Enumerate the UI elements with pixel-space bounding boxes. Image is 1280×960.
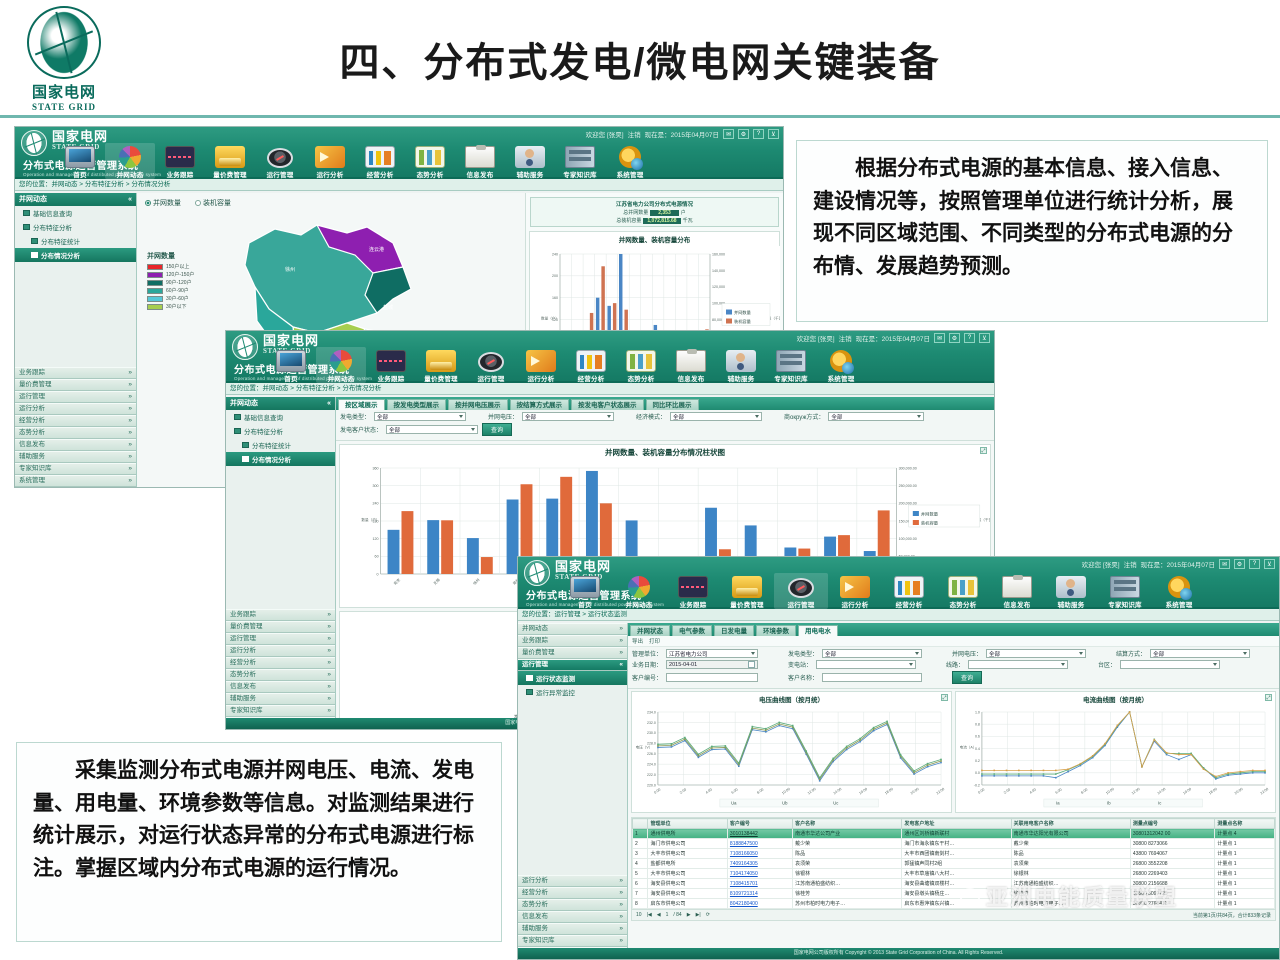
svg-text:装机容量: 装机容量 — [921, 519, 939, 526]
pie-icon — [119, 146, 141, 168]
tree-item-分布特征分析[interactable]: 分布特征分析 — [226, 424, 335, 438]
table-cell-cname: 陈品 — [793, 849, 902, 859]
nav-item-label: 系统管理 — [828, 373, 855, 383]
nav-item-量价费管理[interactable]: 量价费管理 — [720, 573, 774, 609]
table-col-测量点名称[interactable]: 测量点名称 — [1215, 819, 1275, 829]
accordion-label: 运行管理 — [19, 391, 45, 403]
filter-select-voltage[interactable]: 全部 — [986, 649, 1086, 658]
filter-select-area[interactable] — [1120, 660, 1220, 669]
accordion-系统管理[interactable]: 系统管理» — [15, 475, 136, 487]
sidebar-title-1: 并网动态« — [15, 193, 136, 206]
tree-item-分布特征分析[interactable]: 分布特征分析 — [15, 220, 136, 234]
accordion-label: 量价费管理 — [522, 647, 555, 659]
tree-item-label: 分布特征统计 — [41, 236, 80, 246]
nav-item-专家知识库[interactable]: 专家知识库 — [555, 143, 605, 179]
tree-item-label: 分布特征统计 — [252, 440, 291, 450]
accordion-并网动态[interactable]: 并网动态» — [518, 623, 627, 635]
home-icon — [276, 350, 306, 372]
coin-icon — [732, 576, 762, 598]
filter-label: 管理单位： — [632, 649, 662, 658]
nav-item-label: 业务跟踪 — [680, 599, 707, 609]
person-icon — [1056, 576, 1086, 598]
legend-label: 150户以上 — [166, 263, 189, 270]
nav-item-系统管理[interactable]: 系统管理 — [816, 347, 866, 383]
nav-item-运行管理[interactable]: 运行管理 — [466, 347, 516, 383]
query-button-2[interactable]: 查询 — [482, 423, 512, 436]
content-3: 并网状态电气参数日发电量环境参数用电电水 导出 打印 管理单位： 江苏省电力公司… — [628, 623, 1279, 959]
sidebar-accordion-1[interactable]: 业务跟踪»量价费管理»运行管理»运行分析»经营分析»态势分析»信息发布»辅助服务… — [15, 367, 136, 487]
tab-环境参数[interactable]: 环境参数 — [756, 625, 796, 636]
nav-item-label: 专家知识库 — [1108, 599, 1142, 609]
table-cell-cname: 戴少荣 — [793, 839, 902, 849]
accordion-业务跟踪[interactable]: 业务跟踪» — [226, 609, 335, 621]
tab-bar-3[interactable]: 并网状态电气参数日发电量环境参数用电电水 — [628, 623, 1279, 636]
filter-select-settlement[interactable]: 全部 — [1150, 649, 1250, 658]
svg-text:电流（A）: 电流（A） — [960, 744, 977, 749]
data-table[interactable]: 管理单位客户编号客户名称发电客户地址关联用电客户名称测量点编号测量点名称 1通州… — [632, 818, 1275, 909]
svg-text:120,000: 120,000 — [712, 285, 725, 289]
svg-text:220.0: 220.0 — [647, 783, 656, 787]
table-col-客户名称[interactable]: 客户名称 — [793, 819, 902, 829]
table-cell-cname: 徐银林 — [793, 869, 902, 879]
callout-bottom: 采集监测分布式电源并网电压、电流、发电量、用电量、环境参数等信息。对监测结果进行… — [16, 742, 502, 942]
next-page-icon[interactable]: ▶ — [687, 912, 691, 918]
accordion-经营分析[interactable]: 经营分析» — [226, 657, 335, 669]
nav-item-首页[interactable]: 首页 — [55, 143, 105, 179]
accordion-运行分析[interactable]: 运行分析» — [226, 645, 335, 657]
svg-text:300,000.00: 300,000.00 — [899, 466, 917, 470]
settings-icon[interactable]: ⚙ — [738, 129, 749, 139]
nav-item-辅助服务[interactable]: 辅助服务 — [716, 347, 766, 383]
customer-name-input[interactable] — [822, 673, 922, 682]
table-col-index[interactable] — [633, 819, 648, 829]
tree-item-分布情况分析[interactable]: 分布情况分析 — [226, 452, 335, 466]
chevron-icon: » — [327, 669, 331, 681]
tree-node-icon — [31, 252, 38, 258]
tab-并网状态[interactable]: 并网状态 — [630, 625, 670, 636]
nav-item-label: 专家知识库 — [563, 169, 597, 179]
table-cell-no: 5 — [633, 869, 648, 879]
callout-right-text: 根据分布式电源的基本信息、接入信息、建设情况等，按照管理单位进行统计分析，展现不… — [813, 153, 1251, 283]
filter-select-substation[interactable] — [816, 660, 916, 669]
mail-icon[interactable]: ✉ — [934, 333, 945, 343]
coin-icon — [215, 146, 245, 168]
nav-item-经营分析[interactable]: 经营分析 — [882, 573, 936, 609]
tab-按发电类型展示[interactable]: 按发电类型展示 — [387, 399, 447, 410]
table-col-管理单位[interactable]: 管理单位 — [648, 819, 727, 829]
table-cell-addr: 启东市惠萍镇东兴镇… — [902, 899, 1011, 909]
nav-item-运行分析[interactable]: 运行分析 — [828, 573, 882, 609]
tree-item-基础信息查询[interactable]: 基础信息查询 — [226, 410, 335, 424]
tree-node-icon — [23, 210, 30, 216]
prev-page-icon[interactable]: ◀ — [657, 912, 661, 918]
nav-item-label: 业务跟踪 — [167, 169, 194, 179]
accordion-经营分析[interactable]: 经营分析» — [518, 887, 627, 899]
nav-item-label: 首页 — [578, 599, 591, 609]
nav-item-系统管理[interactable]: 系统管理 — [605, 143, 655, 179]
data-table-wrap[interactable]: 管理单位客户编号客户名称发电客户地址关联用电客户名称测量点编号测量点名称 1通州… — [631, 817, 1276, 921]
nav-item-label: 信息发布 — [678, 373, 705, 383]
accordion-经营分析[interactable]: 经营分析» — [15, 415, 136, 427]
settings-icon[interactable]: ⚙ — [949, 333, 960, 343]
accordion-态势分析[interactable]: 态势分析» — [15, 427, 136, 439]
table-cell-cid[interactable]: 7108415701 — [727, 879, 792, 889]
mail-icon[interactable]: ✉ — [723, 129, 734, 139]
help-icon[interactable]: ? — [964, 333, 975, 343]
collapse-icon[interactable]: « — [327, 397, 331, 410]
tree-node-icon — [234, 414, 241, 420]
filter-select-customer-status[interactable]: 全部 — [386, 425, 478, 434]
nav-item-label: 辅助服务 — [517, 169, 544, 179]
filter-select-settlement[interactable]: 全部 — [828, 412, 924, 421]
accordion-label: 辅助服务 — [230, 693, 256, 705]
filter-bar-2[interactable]: 发电类型： 全部 并网电压： 全部 经济模式： 全部 商окруж方式： 全部 … — [336, 410, 994, 441]
settings-icon[interactable]: ⚙ — [1234, 559, 1245, 569]
app-header-1: 国家电网 STATE GRID 分布式电源运营管理系统 Operation an… — [15, 127, 783, 179]
logout-link[interactable]: 注销 — [1124, 559, 1137, 569]
table-cell-mid: 30800 8273066 — [1130, 839, 1215, 849]
nav-item-态势分析[interactable]: 态势分析 — [405, 143, 455, 179]
nav-item-label: 信息发布 — [467, 169, 494, 179]
table-cell-cid[interactable]: 8109721314 — [727, 889, 792, 899]
tree-item-分布特征统计[interactable]: 分布特征统计 — [226, 438, 335, 452]
accordion-专家知识库[interactable]: 专家知识库» — [518, 935, 627, 947]
tree-item-运行异常监控[interactable]: 运行异常监控 — [518, 685, 627, 699]
sidebar-tree-1[interactable]: 基础信息查询分布特征分析分布特征统计分布情况分析 — [15, 206, 136, 262]
table-col-测量点编号[interactable]: 测量点编号 — [1130, 819, 1215, 829]
table-cell-mid: 26800 2269403 — [1130, 869, 1215, 879]
print-button[interactable]: 打印 — [649, 637, 660, 645]
table-row[interactable]: 3大丰市供电公司7108166050陈品大丰市西团镇南剑村…陈品43800 76… — [633, 849, 1275, 859]
sidebar-accordion-bottom-3[interactable]: 运行分析»经营分析»态势分析»信息发布»辅助服务»专家知识库»系统管理» — [518, 875, 627, 959]
tree-item-运行状态监测[interactable]: 运行状态监测 — [518, 671, 627, 685]
accordion-量价费管理[interactable]: 量价费管理» — [15, 379, 136, 391]
chevron-icon: » — [128, 367, 132, 379]
nav-item-态势分析[interactable]: 态势分析 — [936, 573, 990, 609]
callout-bottom-text: 采集监测分布式电源并网电压、电流、发电量、用电量、环境参数等信息。对监测结果进行… — [33, 755, 485, 885]
main-nav-2[interactable]: 首页并网动态业务跟踪量价费管理运行管理运行分析经营分析态势分析信息发布辅助服务专… — [226, 345, 994, 383]
nav-item-运行管理[interactable]: 运行管理 — [774, 573, 828, 609]
nav-item-业务跟踪[interactable]: 业务跟踪 — [155, 143, 205, 179]
customer-id-input[interactable] — [666, 673, 758, 682]
current-chart-card: ⤢ 电流曲线图（按月统） -0.20.00.20.40.60.81.00:002… — [955, 691, 1276, 813]
table-row[interactable]: 1通州供电所3010138442南通市华达公司产业通州区刘桥镇新联村南通市华达阳… — [633, 829, 1275, 839]
table-cell-mname: 计量点 1 — [1215, 859, 1275, 869]
accordion-运行管理[interactable]: 运行管理» — [226, 633, 335, 645]
tab-用电电水[interactable]: 用电电水 — [798, 625, 838, 636]
status-user: 欢迎您 [张昊] — [797, 333, 835, 343]
sidebar-title-2: 并网动态« — [226, 397, 335, 410]
sidebar-3[interactable]: 并网动态»业务跟踪»量价费管理» 运行管理« 运行状态监测运行异常监控 运行分析… — [518, 623, 628, 959]
info-box-1: 江苏省电力公司分布式电源情况 总并网数量 2,353 户 总装机容量 1,072… — [530, 197, 779, 227]
accordion-label: 并网动态 — [522, 623, 548, 635]
chevron-icon: » — [619, 899, 623, 911]
chart-title-1: 并网数量、装机容量分布 — [530, 232, 779, 246]
nav-item-并网动态[interactable]: 并网动态 — [612, 573, 666, 609]
nav-item-量价费管理[interactable]: 量价费管理 — [205, 143, 255, 179]
nav-item-运行分析[interactable]: 运行分析 — [516, 347, 566, 383]
nav-item-label: 运行管理 — [267, 169, 294, 179]
accordion-辅助服务[interactable]: 辅助服务» — [518, 923, 627, 935]
nav-item-辅助服务[interactable]: 辅助服务 — [1044, 573, 1098, 609]
first-page-icon[interactable]: |◀ — [647, 912, 652, 918]
status-bar-2: 欢迎您 [张昊] 注销 现在是：2015年04月07日 ✉ ⚙ ? ⊻ — [797, 332, 990, 344]
tree-node-icon — [242, 456, 249, 462]
clipboard-icon — [465, 146, 495, 168]
svg-text:0.2: 0.2 — [975, 759, 980, 763]
tab-日发电量[interactable]: 日发电量 — [714, 625, 754, 636]
query-button-3[interactable]: 查询 — [952, 671, 982, 684]
table-cell-cid[interactable]: 7104174050 — [727, 869, 792, 879]
maximize-icon[interactable]: ⤢ — [941, 694, 948, 701]
tab-按发电客户状态展示[interactable]: 按发电客户状态展示 — [571, 399, 644, 410]
table-cell-no: 4 — [633, 859, 648, 869]
filter-select-voltage[interactable]: 全部 — [522, 412, 614, 421]
table-cell-mname: 计量点 1 — [1215, 889, 1275, 899]
nav-item-运行分析[interactable]: 运行分析 — [305, 143, 355, 179]
main-nav-3[interactable]: 首页并网动态业务跟踪量价费管理运行管理运行分析经营分析态势分析信息发布辅助服务专… — [518, 571, 1279, 609]
filter-label: 线路： — [946, 660, 964, 669]
export-button[interactable]: 导出 — [632, 637, 643, 645]
accordion-运行分析[interactable]: 运行分析» — [518, 875, 627, 887]
minimize-icon[interactable]: ⊻ — [1264, 559, 1275, 569]
nav-item-label: 信息发布 — [1004, 599, 1031, 609]
accordion-信息发布[interactable]: 信息发布» — [15, 439, 136, 451]
table-cell-cid[interactable]: 8042180400 — [727, 899, 792, 909]
table-col-关联用电客户名称[interactable]: 关联用电客户名称 — [1011, 819, 1130, 829]
sidebar-accordion-top-3[interactable]: 并网动态»业务跟踪»量价费管理» — [518, 623, 627, 659]
tab-按并网电压展示[interactable]: 按并网电压展示 — [448, 399, 508, 410]
tab-同比环比展示[interactable]: 同比环比展示 — [646, 399, 699, 410]
chevron-icon: » — [619, 623, 623, 635]
nav-item-信息发布[interactable]: 信息发布 — [666, 347, 716, 383]
logout-link[interactable]: 注销 — [839, 333, 852, 343]
filter-label: 并网电压： — [952, 649, 982, 658]
main-nav-1[interactable]: 首页并网动态业务跟踪量价费管理运行管理运行分析经营分析态势分析信息发布辅助服务专… — [15, 141, 783, 179]
svg-text:电压（V）: 电压（V） — [636, 744, 653, 749]
gauge-icon — [267, 148, 293, 168]
svg-text:连云港: 连云港 — [369, 246, 384, 253]
accordion-label: 量价费管理 — [19, 379, 52, 391]
tab-按区域展示[interactable]: 按区域展示 — [338, 399, 385, 410]
filter-select-gen-type[interactable]: 全部 — [822, 649, 922, 658]
voltage-line-chart[interactable]: 220.0222.0224.0226.0228.0230.0232.0234.0… — [632, 706, 951, 811]
tree-node-icon — [234, 428, 241, 434]
database-icon — [1110, 576, 1140, 598]
current-line-chart[interactable]: -0.20.00.20.40.60.81.00:002:004:006:008:… — [956, 706, 1275, 811]
nav-item-label: 并网动态 — [328, 373, 355, 383]
table-row[interactable]: 7海安县供电公司8109721314徐桂芳海安县墩头镇杨庄…徐桂芳30800 3… — [633, 889, 1275, 899]
nav-item-专家知识库[interactable]: 专家知识库 — [766, 347, 816, 383]
accordion-信息发布[interactable]: 信息发布» — [518, 911, 627, 923]
table-body[interactable]: 1通州供电所3010138442南通市华达公司产业通州区刘桥镇新联村南通市华达阳… — [633, 829, 1275, 909]
accordion-运行管理[interactable]: 运行管理» — [15, 391, 136, 403]
voltage-chart-card: ⤢ 电压曲线图（按月统） 220.0222.0224.0226.0228.023… — [631, 691, 952, 813]
nav-item-辅助服务[interactable]: 辅助服务 — [505, 143, 555, 179]
page-total: / 84 — [673, 912, 681, 918]
chart-title-2: 并网数量、装机容量分布情况柱状图 — [340, 445, 990, 460]
table-row[interactable]: 4盐都供电所7409164305袁须荣郭猛镇声同村2组袁须荣26800 3552… — [633, 859, 1275, 869]
table-row[interactable]: 6海安县供电公司7108415701江苏南通柏盛纺织…海安县曲塘镇双楼村…江苏南… — [633, 879, 1275, 889]
sidebar-tree-2[interactable]: 基础信息查询分布特征分析分布特征统计分布情况分析 — [226, 410, 335, 466]
collapse-icon[interactable]: « — [128, 193, 132, 206]
svg-text:230.0: 230.0 — [647, 731, 656, 735]
filter-select-line[interactable] — [968, 660, 1068, 669]
table-cell-unit: 大丰市供电公司 — [648, 849, 727, 859]
status-bar-1: 欢迎您 [张昊] 注销 现在是：2015年04月07日 ✉ ⚙ ? ⊻ — [586, 128, 779, 140]
current-chart-title: 电流曲线图（按月统） — [956, 692, 1275, 706]
accordion-label: 运行管理 — [230, 633, 256, 645]
nav-item-信息发布[interactable]: 信息发布 — [990, 573, 1044, 609]
chevron-icon: » — [327, 609, 331, 621]
filter-select-org[interactable]: 江苏省电力公司 — [666, 649, 758, 658]
nav-item-系统管理[interactable]: 系统管理 — [1152, 573, 1206, 609]
filter-select-economy[interactable]: 全部 — [670, 412, 762, 421]
tree-item-基础信息查询[interactable]: 基础信息查询 — [15, 206, 136, 220]
sidebar-1[interactable]: 并网动态« 基础信息查询分布特征分析分布特征统计分布情况分析 业务跟踪»量价费管… — [15, 193, 137, 487]
status-bar-3: 欢迎您 [张昊] 注销 现在是：2015年04月07日 ✉ ⚙ ? ⊻ — [1082, 558, 1275, 570]
bars2-icon — [626, 350, 656, 372]
svg-text:160: 160 — [552, 296, 558, 300]
svg-text:Ua: Ua — [731, 800, 737, 805]
home-icon — [570, 576, 600, 598]
table-cell-rel: 徐桂芳 — [1011, 889, 1130, 899]
sidebar-accordion-2[interactable]: 业务跟踪»量价费管理»运行管理»运行分析»经营分析»态势分析»信息发布»辅助服务… — [226, 609, 335, 729]
tree-item-分布情况分析[interactable]: 分布情况分析 — [15, 248, 136, 262]
minimize-icon[interactable]: ⊻ — [979, 333, 990, 343]
tree-node-icon — [31, 238, 38, 244]
nav-item-label: 并网动态 — [626, 599, 653, 609]
table-cell-cid[interactable]: 7108166050 — [727, 849, 792, 859]
nav-item-label: 首页 — [73, 169, 86, 179]
accordion-业务跟踪[interactable]: 业务跟踪» — [15, 367, 136, 379]
help-icon[interactable]: ? — [1249, 559, 1260, 569]
accordion-业务跟踪[interactable]: 业务跟踪» — [518, 635, 627, 647]
nav-item-专家知识库[interactable]: 专家知识库 — [1098, 573, 1152, 609]
table-cell-mname: 计量点 1 — [1215, 879, 1275, 889]
svg-text:0.6: 0.6 — [975, 735, 980, 739]
page-current[interactable]: 1 — [666, 912, 669, 918]
logout-link[interactable]: 注销 — [628, 129, 641, 139]
nav-item-信息发布[interactable]: 信息发布 — [455, 143, 505, 179]
accordion-label: 运行分析 — [230, 645, 256, 657]
chevron-icon: » — [327, 681, 331, 693]
table-row[interactable]: 8启东市供电公司8042180400苏州市柏时电力电子…启东市惠萍镇东兴镇…苏州… — [633, 899, 1275, 909]
nav-item-经营分析[interactable]: 经营分析 — [355, 143, 405, 179]
table-cell-cname: 江苏南通柏盛纺织… — [793, 879, 902, 889]
tab-bar-2[interactable]: 按区域展示按发电类型展示按并网电压展示按结算方式展示按发电客户状态展示同比环比展… — [336, 397, 994, 410]
legend-item: 30户-60户 — [147, 295, 194, 302]
tree-item-分布特征统计[interactable]: 分布特征统计 — [15, 234, 136, 248]
nav-item-并网动态[interactable]: 并网动态 — [316, 347, 366, 383]
table-cell-cid[interactable]: 3010138442 — [727, 829, 792, 839]
chevron-icon: » — [619, 923, 623, 935]
nav-item-首页[interactable]: 首页 — [558, 573, 612, 609]
help-icon[interactable]: ? — [753, 129, 764, 139]
nav-item-业务跟踪[interactable]: 业务跟踪 — [666, 573, 720, 609]
nav-item-label: 量价费管理 — [213, 169, 247, 179]
nav-item-label: 辅助服务 — [728, 373, 755, 383]
table-cell-cid[interactable]: 8188847500 — [727, 839, 792, 849]
table-row[interactable]: 2海门市供电公司8188847500戴少荣海门市海永镇东干村…戴少荣30800 … — [633, 839, 1275, 849]
chevron-icon: » — [128, 379, 132, 391]
accordion-信息发布[interactable]: 信息发布» — [226, 681, 335, 693]
accordion-专家知识库[interactable]: 专家知识库» — [226, 705, 335, 717]
table-col-发电客户地址[interactable]: 发电客户地址 — [902, 819, 1011, 829]
mail-icon[interactable]: ✉ — [1219, 559, 1230, 569]
chevron-icon: » — [619, 911, 623, 923]
accordion-辅助服务[interactable]: 辅助服务» — [226, 693, 335, 705]
chevron-icon: » — [128, 475, 132, 487]
nav-item-首页[interactable]: 首页 — [266, 347, 316, 383]
nav-item-量价费管理[interactable]: 量价费管理 — [416, 347, 466, 383]
table-cell-addr: 海门市海永镇东干村… — [902, 839, 1011, 849]
date-input-3[interactable]: 2015-04-01 — [666, 660, 758, 669]
sidebar-2[interactable]: 并网动态« 基础信息查询分布特征分析分布特征统计分布情况分析 业务跟踪»量价费管… — [226, 397, 336, 729]
table-cell-rel: 陈品 — [1011, 849, 1130, 859]
table-col-客户编号[interactable]: 客户编号 — [727, 819, 792, 829]
nav-item-态势分析[interactable]: 态势分析 — [616, 347, 666, 383]
table-cell-rel: 徐银林 — [1011, 869, 1130, 879]
table-pager[interactable]: 10 |◀ ◀ 1 / 84 ▶ ▶| ⟳ 当前第1页/共84页，合计833条记… — [632, 909, 1275, 920]
accordion-态势分析[interactable]: 态势分析» — [226, 669, 335, 681]
radio-grid-count[interactable]: 并网数量 — [145, 198, 181, 208]
table-cell-addr: 郭猛镇声同村2组 — [902, 859, 1011, 869]
nav-item-经营分析[interactable]: 经营分析 — [566, 347, 616, 383]
accordion-量价费管理[interactable]: 量价费管理» — [518, 647, 627, 659]
legend-item: 120户-150户 — [147, 271, 194, 278]
chevron-icon: » — [128, 451, 132, 463]
last-page-icon[interactable]: ▶| — [696, 912, 701, 918]
tab-按结算方式展示[interactable]: 按结算方式展示 — [510, 399, 570, 410]
accordion-label: 业务跟踪 — [230, 609, 256, 621]
table-cell-unit: 海门市供电公司 — [648, 839, 727, 849]
refresh-icon[interactable]: ⟳ — [706, 912, 710, 918]
person-icon — [726, 350, 756, 372]
accordion-辅助服务[interactable]: 辅助服务» — [15, 451, 136, 463]
table-cell-cid[interactable]: 7409164305 — [727, 859, 792, 869]
accordion-专家知识库[interactable]: 专家知识库» — [15, 463, 136, 475]
minimize-icon[interactable]: ⊻ — [768, 129, 779, 139]
nav-item-label: 态势分析 — [628, 373, 655, 383]
table-cell-no: 3 — [633, 849, 648, 859]
tree-item-label: 分布情况分析 — [41, 250, 80, 260]
accordion-量价费管理[interactable]: 量价费管理» — [226, 621, 335, 633]
filter-select-gen-type[interactable]: 全部 — [374, 412, 466, 421]
filter-bar-3[interactable]: 管理单位： 江苏省电力公司 发电类型： 全部 并网电压： 全部 结算方式： 全部… — [628, 647, 1279, 689]
maximize-icon[interactable]: ⤢ — [1265, 694, 1272, 701]
svg-text:360: 360 — [373, 466, 379, 470]
chevron-icon: » — [327, 621, 331, 633]
person-icon — [515, 146, 545, 168]
nav-item-业务跟踪[interactable]: 业务跟踪 — [366, 347, 416, 383]
sidebar-accordion-open-3[interactable]: 运行管理« — [518, 659, 627, 671]
legend-label: 120户-150户 — [166, 271, 194, 278]
filter-label: 并网电压： — [488, 412, 518, 421]
nav-item-并网动态[interactable]: 并网动态 — [105, 143, 155, 179]
tab-电气参数[interactable]: 电气参数 — [672, 625, 712, 636]
sidebar-tree-3[interactable]: 运行状态监测运行异常监控 — [518, 671, 627, 699]
accordion-运行分析[interactable]: 运行分析» — [15, 403, 136, 415]
accordion-态势分析[interactable]: 态势分析» — [518, 899, 627, 911]
maximize-icon[interactable]: ⤢ — [980, 447, 987, 454]
table-row[interactable]: 5大丰市供电公司7104174050徐银林大丰市草庙镇八大村…徐银林26800 … — [633, 869, 1275, 879]
page-size[interactable]: 10 — [636, 912, 642, 918]
toolbar-3[interactable]: 导出 打印 — [628, 636, 1279, 647]
table-cell-rel: 袁须荣 — [1011, 859, 1130, 869]
nav-item-运行管理[interactable]: 运行管理 — [255, 143, 305, 179]
svg-text:0.8: 0.8 — [975, 723, 980, 727]
